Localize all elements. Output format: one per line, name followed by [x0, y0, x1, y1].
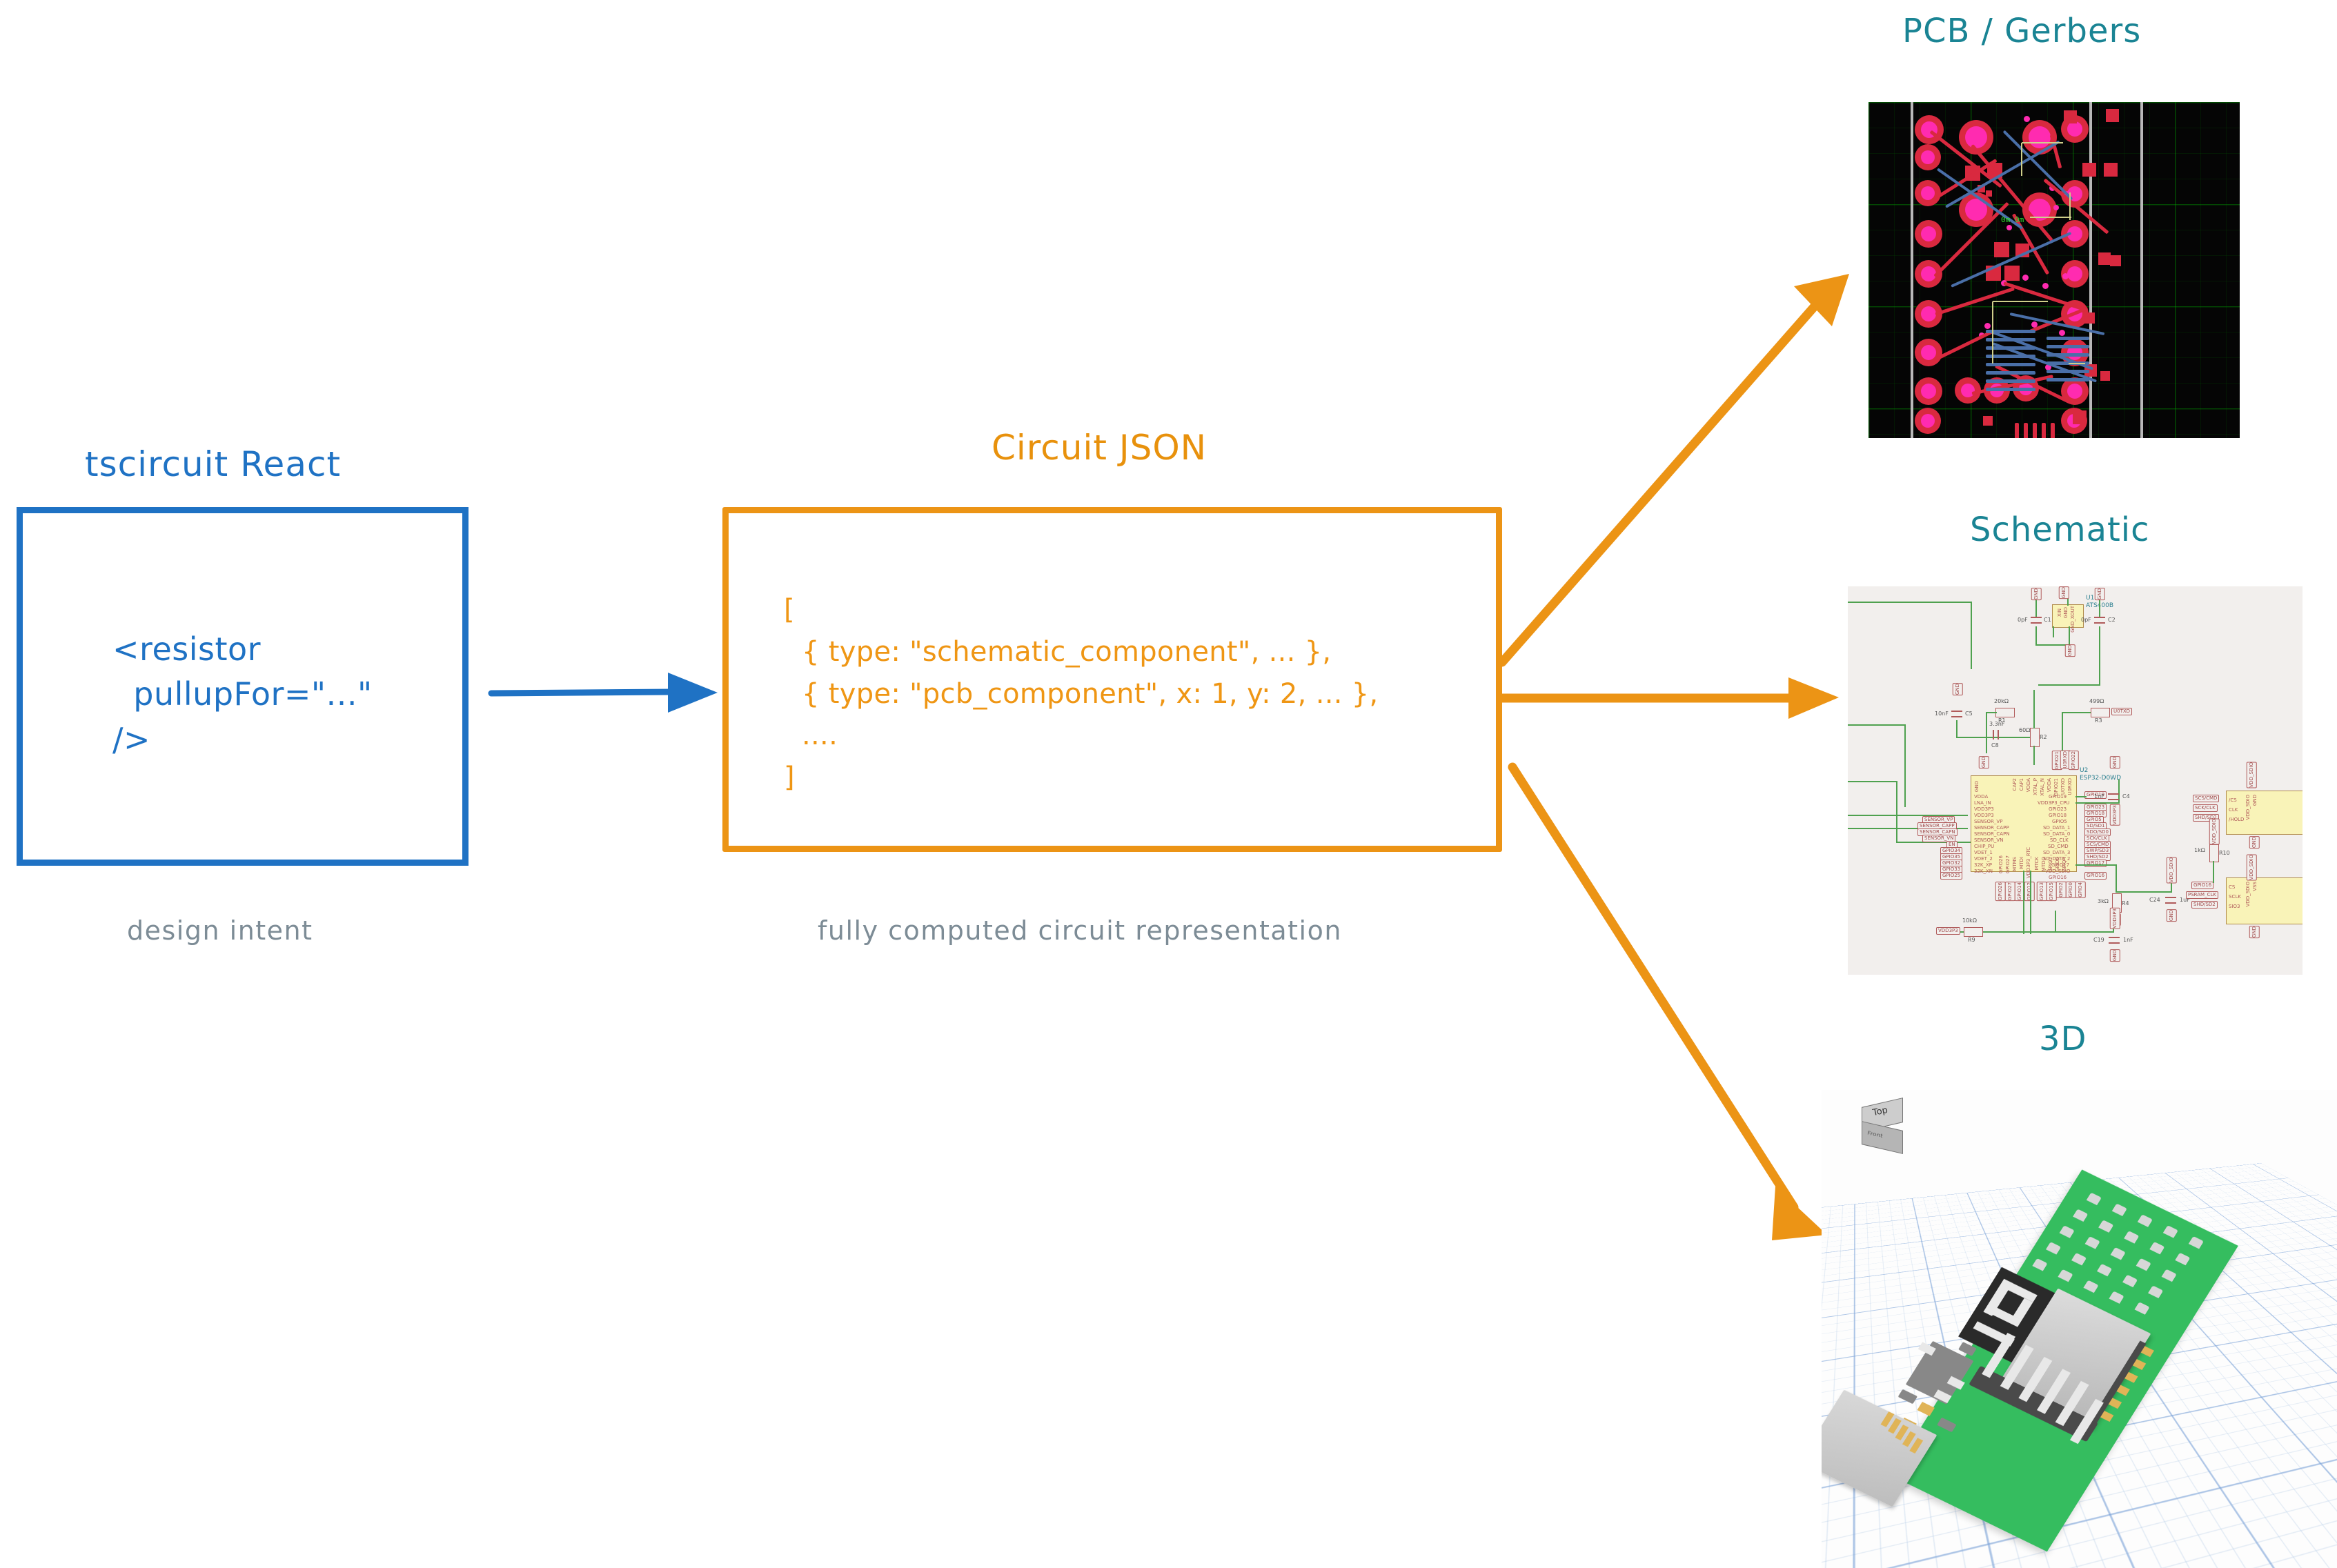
- schematic-pin-label: SD_CLK: [2050, 837, 2069, 843]
- schematic-pin-label: MTDO: [2041, 857, 2047, 871]
- schematic-wire: [2053, 626, 2054, 637]
- schematic-pin-label: 32K_XN: [1974, 869, 1993, 874]
- schematic-refdes: C8: [1991, 742, 1999, 748]
- schematic-wire: [2030, 871, 2031, 934]
- schematic-pin-label: CAP2: [2012, 778, 2018, 791]
- pcb-smd-pad: [2100, 371, 2110, 381]
- schematic-net-label: GPIO4: [2075, 882, 2086, 898]
- schematic-pin-label: XTAL_P: [2033, 778, 2038, 795]
- pcb-smd-pad: [2064, 110, 2077, 123]
- pcb-pin-finger: [1986, 379, 2035, 383]
- schematic-wire: [1986, 712, 1987, 753]
- schematic-pin-label: GPIO26: [1998, 855, 2004, 873]
- schematic-wire: [2069, 626, 2070, 646]
- schematic-pin-label: GPIO18: [2049, 813, 2067, 818]
- tscircuit-react-code: <resistor pullupFor="..." />: [112, 627, 373, 762]
- schematic-pin-label: GPIO5: [2052, 819, 2067, 824]
- arrow-json-to-3d: [1512, 767, 1827, 1240]
- schematic-net-vddsdio: VDD_SDIO: [2209, 818, 2220, 844]
- schematic-resistor-r3: [2091, 708, 2110, 717]
- schematic-pin-label: CLK: [2229, 807, 2238, 813]
- pcb-via: [2006, 225, 2012, 230]
- schematic-net-gnd: GND: [2249, 836, 2260, 848]
- schematic-net-label: SCS/CMD: [2193, 795, 2219, 802]
- pcb-silkscreen: [1993, 301, 2048, 302]
- pcb-silkscreen: [2030, 217, 2071, 218]
- schematic-wire: [2099, 626, 2100, 684]
- schematic-pin-label: SIO3: [2229, 904, 2240, 909]
- schematic-net-label: GPIO17: [2084, 860, 2107, 867]
- pcb-via: [2042, 283, 2049, 289]
- schematic-net-label: GPIO25: [1940, 872, 1962, 880]
- pcb-gerbers-thumbnail[interactable]: 0m 0m: [1868, 102, 2240, 438]
- pcb-pin-finger: [2047, 378, 2089, 381]
- schematic-pin-label: VDD_SDIO: [2245, 882, 2251, 906]
- schematic-net-label: GPIO15: [2047, 882, 2057, 901]
- schematic-pin-label: GPIO0: [2055, 857, 2060, 872]
- schematic-wire: [2035, 626, 2037, 644]
- schematic-pin-label: SD_CMD: [2048, 844, 2069, 849]
- schematic-net-vdd: VDD3P3: [2110, 908, 2120, 929]
- view3d-thumbnail[interactable]: Top Front: [1822, 1090, 2337, 1568]
- circuit-json-caption: fully computed circuit representation: [818, 915, 1342, 946]
- arrow-json-to-schematic: [1502, 677, 1839, 719]
- circuit-json-code: [ { type: "schematic_component", ... }, …: [784, 589, 1379, 799]
- schematic-pin-label: CHIP_PU: [1974, 844, 1994, 849]
- schematic-resistor-r9: [1964, 927, 1983, 937]
- schematic-pin-label: GPIO4: [2062, 857, 2067, 872]
- pcb-smd-pad: [1994, 242, 2009, 257]
- schematic-pin-label: /HOLD: [2229, 817, 2244, 822]
- schematic-capacitor-c4: [2108, 793, 2119, 803]
- pcb-smd-pad: [2110, 255, 2121, 266]
- pcb-pad: [1921, 306, 1936, 321]
- schematic-net-gnd: GND: [2059, 586, 2069, 599]
- schematic-wire: [1848, 602, 1972, 603]
- schematic-pin-label: XTAL_N: [2040, 778, 2045, 796]
- pcb-gerbers-title: PCB / Gerbers: [1902, 12, 2141, 50]
- schematic-net-gnd: GND: [1979, 756, 1989, 768]
- schematic-net-gnd: GND: [2065, 644, 2075, 657]
- schematic-pin-label: VDD3P3: [1974, 806, 1994, 812]
- schematic-pin-label: GPIO21: [2053, 778, 2059, 796]
- schematic-refdes: C2: [2108, 617, 2116, 623]
- schematic-wire: [1986, 712, 1997, 713]
- schematic-wire: [2075, 864, 2117, 866]
- schematic-component-psram: [2226, 877, 2303, 924]
- schematic-net-vdd: VDD3P3: [1936, 927, 1960, 935]
- schematic-net-u0txd: U0TXD: [2111, 708, 2132, 715]
- schematic-pin-label: VDDA: [1974, 794, 1988, 800]
- schematic-pin-label: CAP1: [2019, 778, 2024, 791]
- pcb-via: [2059, 330, 2065, 336]
- schematic-refdes: C24: [2149, 897, 2160, 903]
- schematic-pin-label: GND: [1974, 781, 1980, 792]
- schematic-refdes: R3: [2095, 717, 2102, 724]
- pcb-silkscreen: [2021, 143, 2022, 176]
- schematic-pin-label: /CS: [2229, 797, 2237, 803]
- pcb-smd-pad: [2073, 410, 2087, 424]
- schematic-net-vddsdio: VDD_SDIO: [2167, 857, 2177, 883]
- schematic-pin-label: GPIO27: [2005, 855, 2011, 873]
- schematic-pin-label: GND: [2063, 607, 2069, 618]
- schematic-value: 3.3nF: [1989, 721, 2004, 727]
- schematic-capacitor-c24: [2165, 897, 2176, 906]
- schematic-refdes: C5: [1965, 711, 1973, 717]
- schematic-wire: [2033, 746, 2035, 765]
- schematic-pin-label: LNA_IN: [1974, 800, 1991, 806]
- schematic-pin-label: 32K_XP: [1974, 862, 1992, 868]
- schematic-net-label: PSRAM_CLK: [2186, 891, 2218, 899]
- schematic-refdes: R9: [1968, 937, 1975, 943]
- schematic-net-gnd: GND: [2110, 949, 2120, 962]
- diagram-canvas: tscircuit React <resistor pullupFor="...…: [0, 0, 2337, 1568]
- schematic-net-vddsdio: VDD_SDIO: [2247, 762, 2257, 788]
- schematic-refdes: R2: [2040, 734, 2047, 740]
- schematic-pin-label: SD_DATA_3: [2043, 850, 2070, 855]
- schematic-value: 1nF: [2123, 937, 2133, 943]
- pcb-smd-pad: [2004, 266, 2020, 281]
- pcb-via: [2022, 275, 2029, 281]
- schematic-pin-label: SENSOR_CAPP: [1974, 825, 2009, 831]
- schematic-wire: [2038, 684, 2100, 686]
- schematic-wire: [1904, 724, 1906, 807]
- pcb-via: [2062, 273, 2069, 279]
- pcb-pad: [1921, 150, 1935, 164]
- schematic-wire: [1848, 781, 1897, 782]
- pcb-edge-right: [2089, 102, 2092, 438]
- circuit-json-box: [ { type: "schematic_component", ... }, …: [722, 507, 1502, 852]
- schematic-pin-label: SD_DATA_0: [2043, 831, 2070, 837]
- pcb-smd-pad: [2082, 163, 2096, 177]
- circuit-json-title: Circuit JSON: [992, 428, 1207, 468]
- schematic-net-gnd: GND: [2031, 588, 2042, 600]
- pcb-via: [2024, 116, 2030, 122]
- schematic-pin-label: VDDA: [2026, 778, 2031, 792]
- pcb-edge-right2: [2140, 102, 2143, 438]
- schematic-wire: [2075, 796, 2087, 797]
- schematic-wire: [2116, 891, 2172, 893]
- pcb-silkscreen: [2069, 192, 2071, 220]
- schematic-capacitor-c5: [1951, 711, 1962, 720]
- schematic-value: 10nF: [1935, 711, 1949, 717]
- pcb-pad: [2067, 384, 2082, 399]
- schematic-net-gnd: GND: [1953, 683, 1963, 695]
- schematic-pin-label: VSS: [2252, 882, 2258, 891]
- schematic-refdes: C19: [2093, 937, 2104, 943]
- schematic-refdes: R4: [2122, 900, 2129, 906]
- schematic-value: 20kΩ: [1994, 698, 2009, 704]
- pcb-pin-finger: [1986, 388, 2035, 391]
- pcb-dimension-label: 0m: [2015, 215, 2024, 224]
- schematic-wire: [1956, 720, 1958, 737]
- schematic-value: 60Ω: [2019, 727, 2030, 733]
- schematic-net-label: GPIO13: [2037, 882, 2047, 901]
- pcb-via: [1984, 323, 1991, 329]
- schematic-pin-label: SENSOR_VP: [1974, 819, 2002, 824]
- schematic-pin-label: VDD_SDIO: [2245, 795, 2251, 820]
- pcb-pin-finger: [2033, 423, 2037, 438]
- schematic-capacitor-c2: [2094, 617, 2105, 626]
- orientation-cube[interactable]: Top Front: [1857, 1102, 1906, 1155]
- schematic-pin-label: GND: [2252, 795, 2258, 806]
- schematic-pin-label: SENSOR_CAPN: [1974, 831, 2010, 837]
- pcb-pad: [1921, 226, 1936, 241]
- schematic-pin-label: MTMS: [2012, 857, 2018, 871]
- pcb-pin-finger: [2047, 345, 2089, 348]
- schematic-wire: [2023, 871, 2024, 934]
- schematic-pin-label: GPIO23: [2049, 806, 2067, 812]
- schematic-wire: [2213, 861, 2214, 883]
- schematic-value: 1nF: [2094, 793, 2104, 800]
- schematic-net-label: GPIO26: [1995, 882, 2006, 901]
- schematic-value: 3kΩ: [2098, 898, 2109, 904]
- schematic-pin-label: VDDA: [2047, 778, 2052, 792]
- pcb-pad: [2067, 266, 2082, 281]
- pcb-pin-finger: [2042, 423, 2046, 438]
- schematic-capacitor-c1: [2031, 617, 2042, 626]
- tscircuit-react-box: <resistor pullupFor="..." />: [17, 507, 469, 866]
- pcb-pin-finger: [2051, 423, 2055, 438]
- schematic-refdes-u2: U2 ESP32-D0WD: [2080, 767, 2121, 783]
- pcb-pin-finger: [2047, 370, 2089, 373]
- schematic-pin-label: SENSOR_VN: [1974, 837, 2003, 843]
- pcb-smd-pad: [1983, 416, 1993, 426]
- schematic-pin-label: U0RXD: [2067, 778, 2073, 795]
- schematic-net-gnd: GND: [2110, 756, 2120, 768]
- schematic-wire: [1896, 781, 1897, 843]
- schematic-pin-label: XIN: [2057, 608, 2062, 617]
- pcb-dimension-label: 0m: [2001, 215, 2010, 224]
- schematic-net-gnd: GND: [2095, 588, 2105, 600]
- schematic-pin-label: VDET_1: [1974, 850, 1993, 855]
- pcb-pad: [1921, 384, 1936, 399]
- schematic-capacitor-c19: [2109, 937, 2120, 946]
- pcb-edge-left: [1911, 102, 1913, 438]
- schematic-wire: [2062, 712, 2091, 713]
- schematic-wire: [2033, 690, 2035, 728]
- pcb-smd-pad: [2098, 252, 2111, 265]
- tscircuit-react-title: tscircuit React: [85, 444, 341, 484]
- pcb-pad: [2067, 121, 2082, 137]
- schematic-net-label: GPIO27: [2005, 882, 2015, 901]
- pcb-smd-pad: [1986, 190, 1992, 197]
- schematic-wire: [2056, 931, 2114, 933]
- schematic-net-label: GPIO22: [2069, 751, 2079, 770]
- schematic-resistor-r1: [1995, 708, 2015, 717]
- pcb-pad: [1921, 414, 1935, 428]
- schematic-wire: [1971, 602, 1972, 669]
- pcb-pin-finger: [2015, 423, 2019, 438]
- schematic-net-gnd: GND: [2249, 926, 2260, 938]
- schematic-refdes: R10: [2219, 850, 2230, 856]
- schematic-value: 499Ω: [2089, 698, 2104, 704]
- arrow-react-to-json: [491, 673, 718, 713]
- schematic-value: 0pF: [2081, 617, 2091, 623]
- pcb-smd-pad: [2084, 312, 2095, 324]
- schematic-pin-label: MTCK: [2034, 857, 2040, 870]
- schematic-value: 1kΩ: [2194, 847, 2205, 853]
- schematic-pin-label: GND_XOUT: [2070, 606, 2075, 633]
- schematic-wire: [2055, 911, 2056, 933]
- schematic-resistor-r2: [2030, 728, 2040, 747]
- schematic-wire: [1848, 724, 1904, 726]
- schematic-net-label: GPIO0: [2066, 882, 2076, 898]
- schematic-pin-label: SD_DATA_1: [2043, 825, 2070, 831]
- design-intent-caption: design intent: [127, 915, 313, 946]
- schematic-net-label: GPIO16: [2191, 882, 2213, 889]
- schematic-net-label: SCK/CLK: [2193, 804, 2218, 812]
- schematic-net-vdd: VDD3P3: [2110, 804, 2120, 826]
- schematic-pin-label: GPIO16: [2049, 875, 2067, 880]
- pcb-pin-finger: [2047, 337, 2089, 340]
- pcb-pad: [1965, 126, 1987, 148]
- schematic-net-label: GPIO16: [2084, 872, 2107, 880]
- schematic-net-vddsdio: VDD_SDIO: [2247, 854, 2257, 880]
- pcb-pin-finger: [1986, 371, 2035, 375]
- schematic-value: 10kΩ: [1962, 917, 1977, 924]
- arrow-json-to-pcb: [1502, 274, 1849, 662]
- pcb-pad: [1961, 384, 1975, 397]
- pcb-smd-pad: [2106, 109, 2119, 122]
- schematic-thumbnail[interactable]: U1 ATS400B XIN GND GND_XOUT 0pF C1 0pF C…: [1848, 586, 2303, 975]
- schematic-pin-label: U0TXD: [2060, 778, 2066, 795]
- schematic-resistor-r10: [2209, 844, 2219, 862]
- schematic-title: Schematic: [1970, 510, 2150, 549]
- schematic-pin-label: VDD3P3: [1974, 813, 1994, 818]
- schematic-pin-label: MTDI: [2019, 857, 2024, 869]
- schematic-pin-label: VDET_2: [1974, 856, 1993, 862]
- schematic-capacitor-c8: [1993, 730, 2002, 740]
- schematic-pin-label: CS: [2229, 884, 2235, 890]
- pcb-smd-pad: [2104, 163, 2118, 177]
- schematic-component-flash: [2226, 791, 2303, 835]
- pcb-pin-finger: [2047, 353, 2089, 357]
- schematic-refdes: C4: [2122, 793, 2130, 800]
- view3d-title: 3D: [2039, 1020, 2087, 1058]
- pcb-silkscreen: [2022, 142, 2063, 143]
- pcb-pad: [2029, 126, 2051, 148]
- schematic-refdes: C1: [2044, 617, 2051, 623]
- schematic-pin-label: SCLK: [2229, 894, 2241, 900]
- schematic-wire: [2116, 864, 2117, 892]
- schematic-net-label: GPIO2: [2056, 882, 2067, 898]
- pcb-pin-finger: [2024, 423, 2028, 438]
- pcb-via: [2053, 205, 2059, 210]
- schematic-net-gnd: GND: [2167, 909, 2177, 922]
- schematic-pin-label: VDD3P3_CPU: [2038, 800, 2069, 806]
- schematic-value: 0pF: [2018, 617, 2028, 623]
- pcb-silkscreen: [1992, 301, 1993, 364]
- schematic-pin-label: GPIO2: [2048, 857, 2053, 872]
- pcb-silkscreen: [2069, 363, 2085, 364]
- schematic-net-label: SHD/SD2: [2191, 901, 2218, 909]
- pcb-pad: [1921, 345, 1936, 360]
